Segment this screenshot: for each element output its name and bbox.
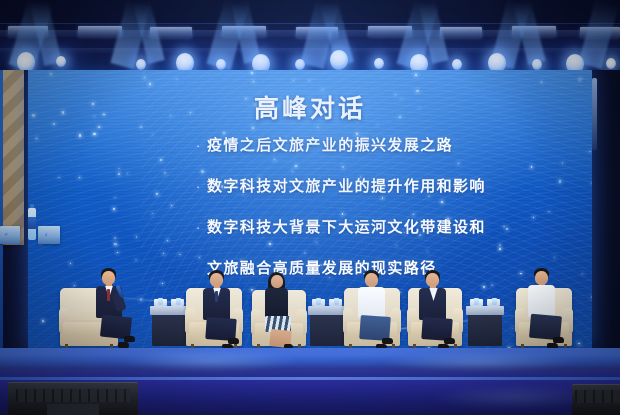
torso-white-shirt xyxy=(528,285,555,317)
stage-front-edge xyxy=(0,377,620,380)
side-table-top xyxy=(308,306,346,315)
truss-frame xyxy=(0,0,620,24)
podium-label: Z xyxy=(45,232,48,237)
necktie xyxy=(215,291,218,302)
light-fixture-housing xyxy=(580,27,620,38)
panelist-moderator xyxy=(88,268,134,350)
panelist-6 xyxy=(522,268,566,350)
light-fixture-housing xyxy=(8,26,48,37)
conference-stage-photo: 高峰对话 ·疫情之后文旅产业的振兴发展之路·数字科技对文旅产业的提升作用和影响·… xyxy=(0,0,620,415)
light-fixture-housing xyxy=(512,26,556,37)
water-bottle-label xyxy=(28,217,36,229)
monitor-vents xyxy=(575,390,620,403)
panelist-4 xyxy=(352,270,396,350)
light-fixture-housing xyxy=(296,27,338,38)
spotlight-fixture xyxy=(216,59,226,70)
spotlight-fixture xyxy=(17,52,35,72)
water-glass xyxy=(492,298,497,305)
slide-bullet: ·数字科技对文旅产业的提升作用和影响 xyxy=(28,175,592,196)
wall-light-strip xyxy=(592,78,597,150)
water-glass xyxy=(316,298,321,305)
light-fixture-housing xyxy=(368,26,412,37)
bullet-text: 数字科技对文旅产业的提升作用和影响 xyxy=(207,175,486,196)
light-fixture-housing xyxy=(78,26,122,37)
water-glass xyxy=(334,298,339,305)
floor-monitor-left xyxy=(8,382,138,415)
necktie xyxy=(107,289,110,301)
light-fixture-housing xyxy=(222,26,266,37)
slide-title: 高峰对话 xyxy=(28,89,592,125)
side-table-top xyxy=(466,306,504,315)
monitor-vents xyxy=(16,389,130,402)
side-table-top xyxy=(150,306,188,315)
truss-bar-lower xyxy=(0,48,620,53)
light-fixture-housing xyxy=(440,27,482,38)
monitor-stand xyxy=(47,404,99,415)
left-podium-second: Z xyxy=(38,226,60,244)
floor-light-sheen xyxy=(120,350,300,372)
light-fixture-housing xyxy=(150,27,192,38)
bullet-text: 文旅融合高质量发展的现实路径 xyxy=(207,257,437,278)
floor-light-sheen xyxy=(380,352,580,372)
spotlight-fixture xyxy=(295,59,305,70)
spotlight-fixture xyxy=(374,58,384,69)
spotlight-fixture xyxy=(452,59,462,70)
spotlight-fixture xyxy=(136,59,146,70)
panelist-2 xyxy=(198,270,240,350)
bullet-marker-icon: · xyxy=(196,221,207,234)
bullet-text: 疫情之后文旅产业的振兴发展之路 xyxy=(207,134,453,155)
spotlight-fixture xyxy=(606,58,616,69)
podium-label: P xyxy=(5,232,8,237)
spotlight-fixture xyxy=(330,50,348,70)
wall-accent-strip xyxy=(0,70,3,348)
bullet-text: 数字科技大背景下大运河文化带建设和 xyxy=(207,216,486,237)
left-podium: P xyxy=(0,226,20,244)
side-table xyxy=(310,306,344,346)
side-table xyxy=(152,306,186,346)
spotlight-fixture xyxy=(532,59,542,70)
water-glass xyxy=(474,298,479,305)
water-glass xyxy=(176,298,181,305)
slide-bullet: ·数字科技大背景下大运河文化带建设和 xyxy=(28,216,592,237)
panelist-3 xyxy=(258,272,300,350)
bullet-marker-icon: · xyxy=(196,180,207,193)
panelist-5 xyxy=(414,270,456,350)
bullet-marker-icon: · xyxy=(196,139,207,152)
floor-monitor-right xyxy=(572,384,620,415)
slide-bullet: ·疫情之后文旅产业的振兴发展之路 xyxy=(28,134,592,155)
ceiling-truss-area xyxy=(0,0,620,72)
hexagonal-wall-panel xyxy=(2,70,24,245)
head xyxy=(271,275,283,288)
water-glass xyxy=(158,298,163,305)
spotlight-fixture xyxy=(56,56,66,67)
torso-white-shirt xyxy=(358,287,385,318)
side-table xyxy=(468,306,502,346)
torso-top xyxy=(265,288,288,318)
